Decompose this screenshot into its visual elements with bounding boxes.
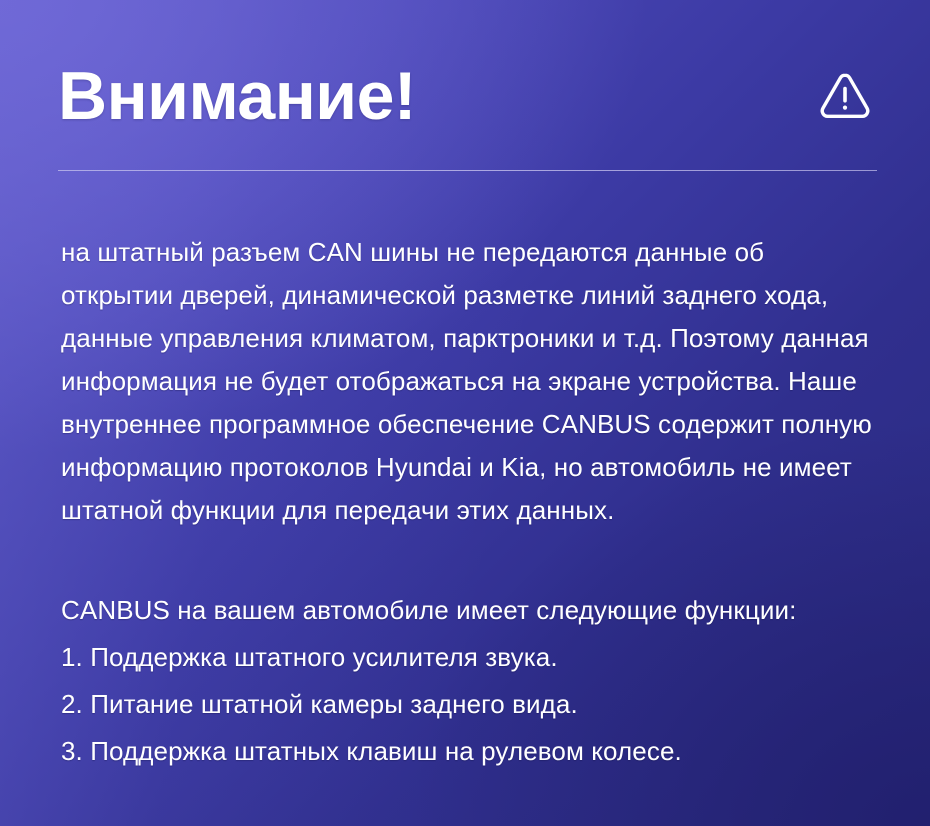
page-title: Внимание! bbox=[58, 58, 416, 134]
attention-notice-poster: Внимание! на штатный разъем CAN шины не … bbox=[0, 0, 930, 826]
list-item: 2. Питание штатной камеры заднего вида. bbox=[61, 681, 891, 728]
warning-triangle-icon bbox=[817, 68, 877, 124]
list-item: 1. Поддержка штатного усилителя звука. bbox=[61, 634, 891, 681]
list-item: 3. Поддержка штатных клавиш на рулевом к… bbox=[61, 728, 891, 775]
features-block: CANBUS на вашем автомобиле имеет следующ… bbox=[61, 587, 891, 775]
poster-header: Внимание! bbox=[58, 56, 877, 136]
notice-paragraph: на штатный разъем CAN шины не передаются… bbox=[61, 231, 883, 532]
header-divider bbox=[58, 170, 877, 171]
features-lead-text: CANBUS на вашем автомобиле имеет следующ… bbox=[61, 587, 891, 634]
